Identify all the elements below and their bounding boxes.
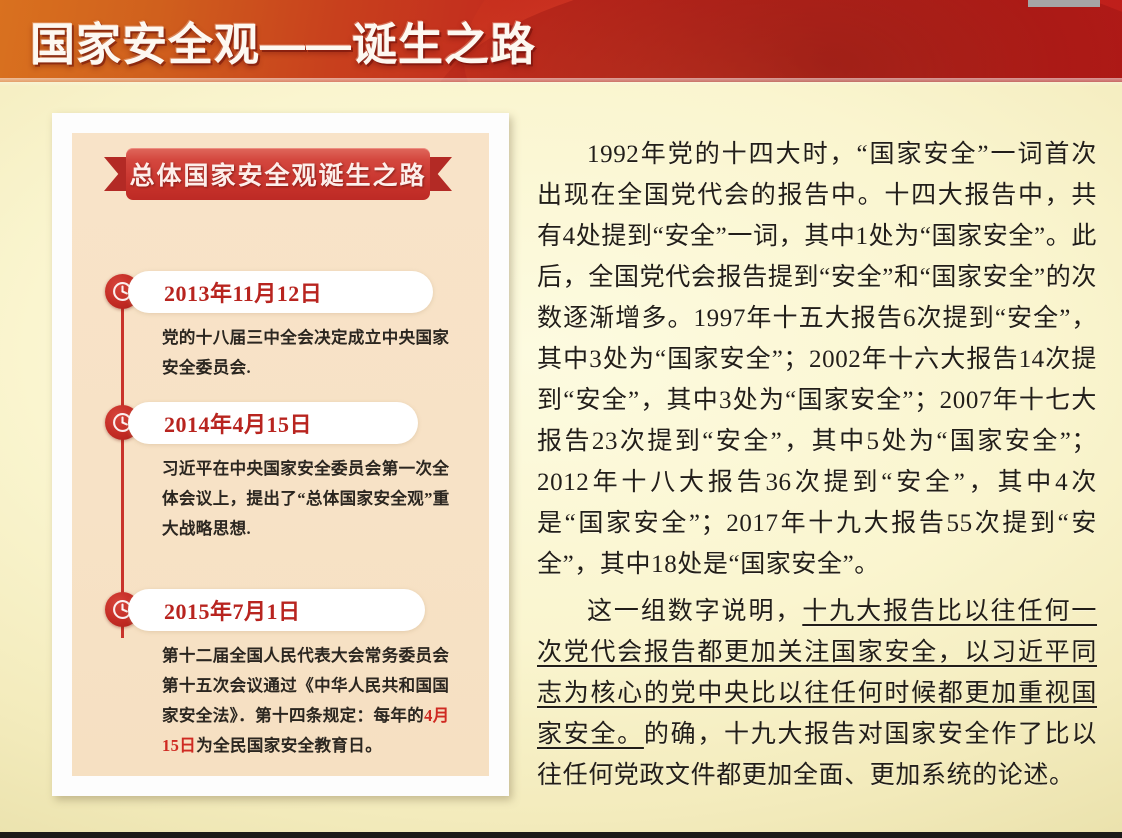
timeline-description: 第十二届全国人民代表大会常务委员会第十五次会议通过《中华人民共和国国家安全法》．… bbox=[162, 641, 462, 761]
timeline-description-part1: 第十二届全国人民代表大会常务委员会第十五次会议通过《中华人民共和国国家安全法》．… bbox=[162, 646, 449, 725]
article-paragraph-1: 1992年党的十四大时，“国家安全”一词首次出现在全国党代会的报告中。十四大报告… bbox=[537, 134, 1097, 585]
timeline-description: 党的十八届三中全会决定成立中央国家安全委员会. bbox=[162, 323, 462, 383]
ribbon-body: 总体国家安全观诞生之路 bbox=[126, 148, 430, 200]
header-underglow bbox=[0, 78, 1122, 86]
timeline-date-pill: 2013年11月12日 bbox=[128, 271, 433, 313]
slide-root: 国家安全观——诞生之路 总体国家安全观诞生之路 bbox=[0, 0, 1122, 838]
timeline-date-pill: 2015年7月1日 bbox=[128, 589, 425, 631]
timeline-description: 习近平在中央国家安全委员会第一次全体会议上，提出了“总体国家安全观”重大战略思想… bbox=[162, 454, 462, 544]
header-sheen-decoration bbox=[443, 0, 1122, 82]
timeline-card-inner: 总体国家安全观诞生之路 2013年11月12日 党的十八届三中全会决定成立中央 bbox=[72, 133, 489, 776]
paragraph-2-lead: 这一组数字说明， bbox=[587, 598, 802, 625]
bottom-strip bbox=[0, 832, 1122, 838]
ribbon-banner: 总体国家安全观诞生之路 bbox=[104, 148, 452, 200]
header-band: 国家安全观——诞生之路 bbox=[0, 0, 1122, 82]
page-title: 国家安全观——诞生之路 bbox=[30, 8, 536, 73]
ribbon-label: 总体国家安全观诞生之路 bbox=[129, 156, 426, 192]
timeline-axis bbox=[121, 293, 124, 638]
article-column: 1992年党的十四大时，“国家安全”一词首次出现在全国党代会的报告中。十四大报告… bbox=[537, 134, 1097, 802]
timeline-description-part2: 为全民国家安全教育日。 bbox=[196, 736, 382, 755]
timeline-date-pill: 2014年4月15日 bbox=[128, 402, 418, 444]
timeline-date: 2013年11月12日 bbox=[128, 276, 322, 308]
top-right-artifact bbox=[1028, 0, 1100, 7]
timeline-card: 总体国家安全观诞生之路 2013年11月12日 党的十八届三中全会决定成立中央 bbox=[52, 113, 509, 796]
article-paragraph-2: 这一组数字说明，十九大报告比以往任何一次党代会报告都更加关注国家安全，以习近平同… bbox=[537, 591, 1097, 796]
timeline-date: 2014年4月15日 bbox=[128, 407, 312, 439]
timeline-date: 2015年7月1日 bbox=[128, 594, 301, 626]
